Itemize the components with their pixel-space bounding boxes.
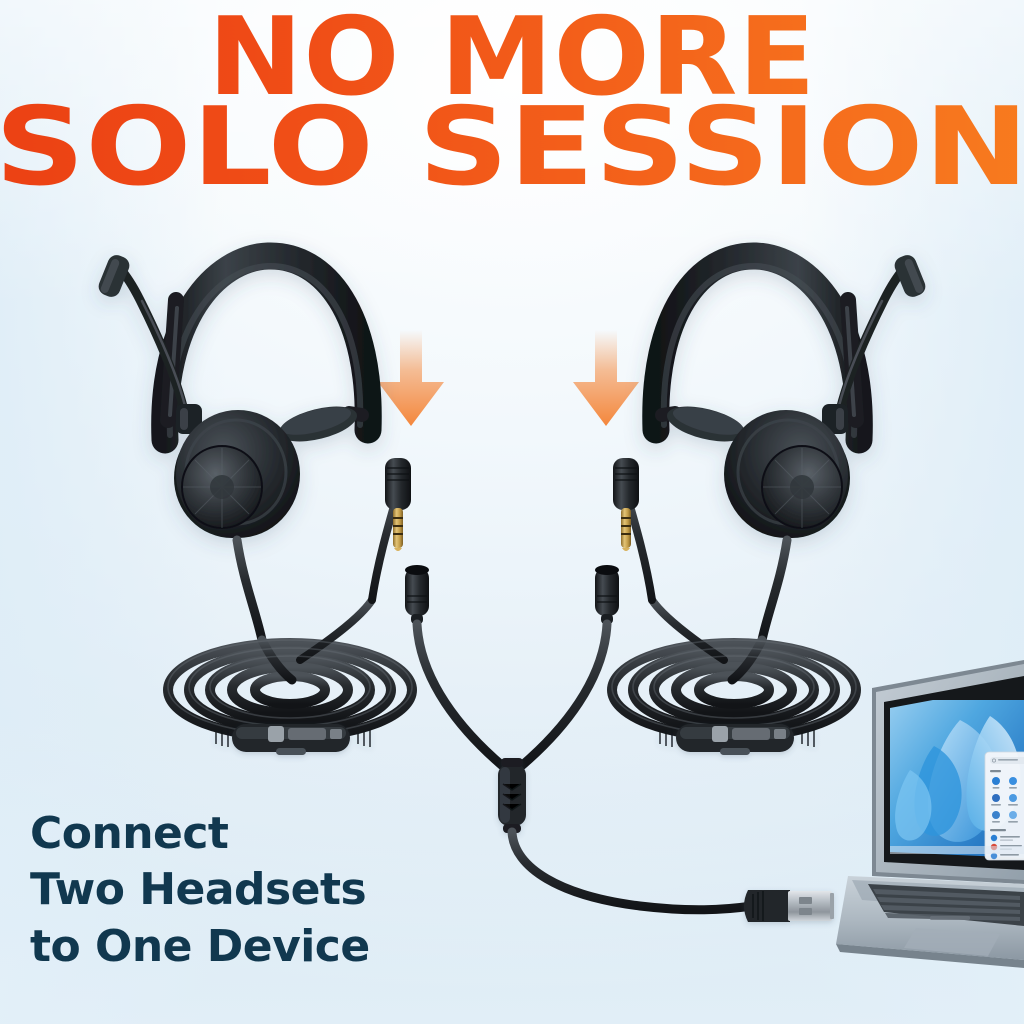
product-banner: NO MORE SOLO SESSION xyxy=(0,0,1024,1024)
splitter-socket-right xyxy=(595,565,619,624)
splitter-junction xyxy=(498,758,526,833)
usb-connector xyxy=(744,890,834,922)
start-recommended-label xyxy=(990,829,1006,831)
laptop xyxy=(836,660,1024,968)
headset-left xyxy=(96,252,368,538)
start-pinned-label xyxy=(990,770,1001,772)
subtitle-line-1: Connect xyxy=(30,806,370,862)
arrow-down-left-icon xyxy=(378,330,444,426)
splitter-socket-left xyxy=(405,565,429,624)
subtitle-line-2: Two Headsets xyxy=(30,862,370,918)
subtitle-line-3: to One Device xyxy=(30,919,370,975)
windows-start-menu[interactable] xyxy=(985,752,1024,860)
subtitle: Connect Two Headsets to One Device xyxy=(30,806,370,975)
arrow-down-right-icon xyxy=(573,330,639,426)
headset-right xyxy=(656,252,928,538)
